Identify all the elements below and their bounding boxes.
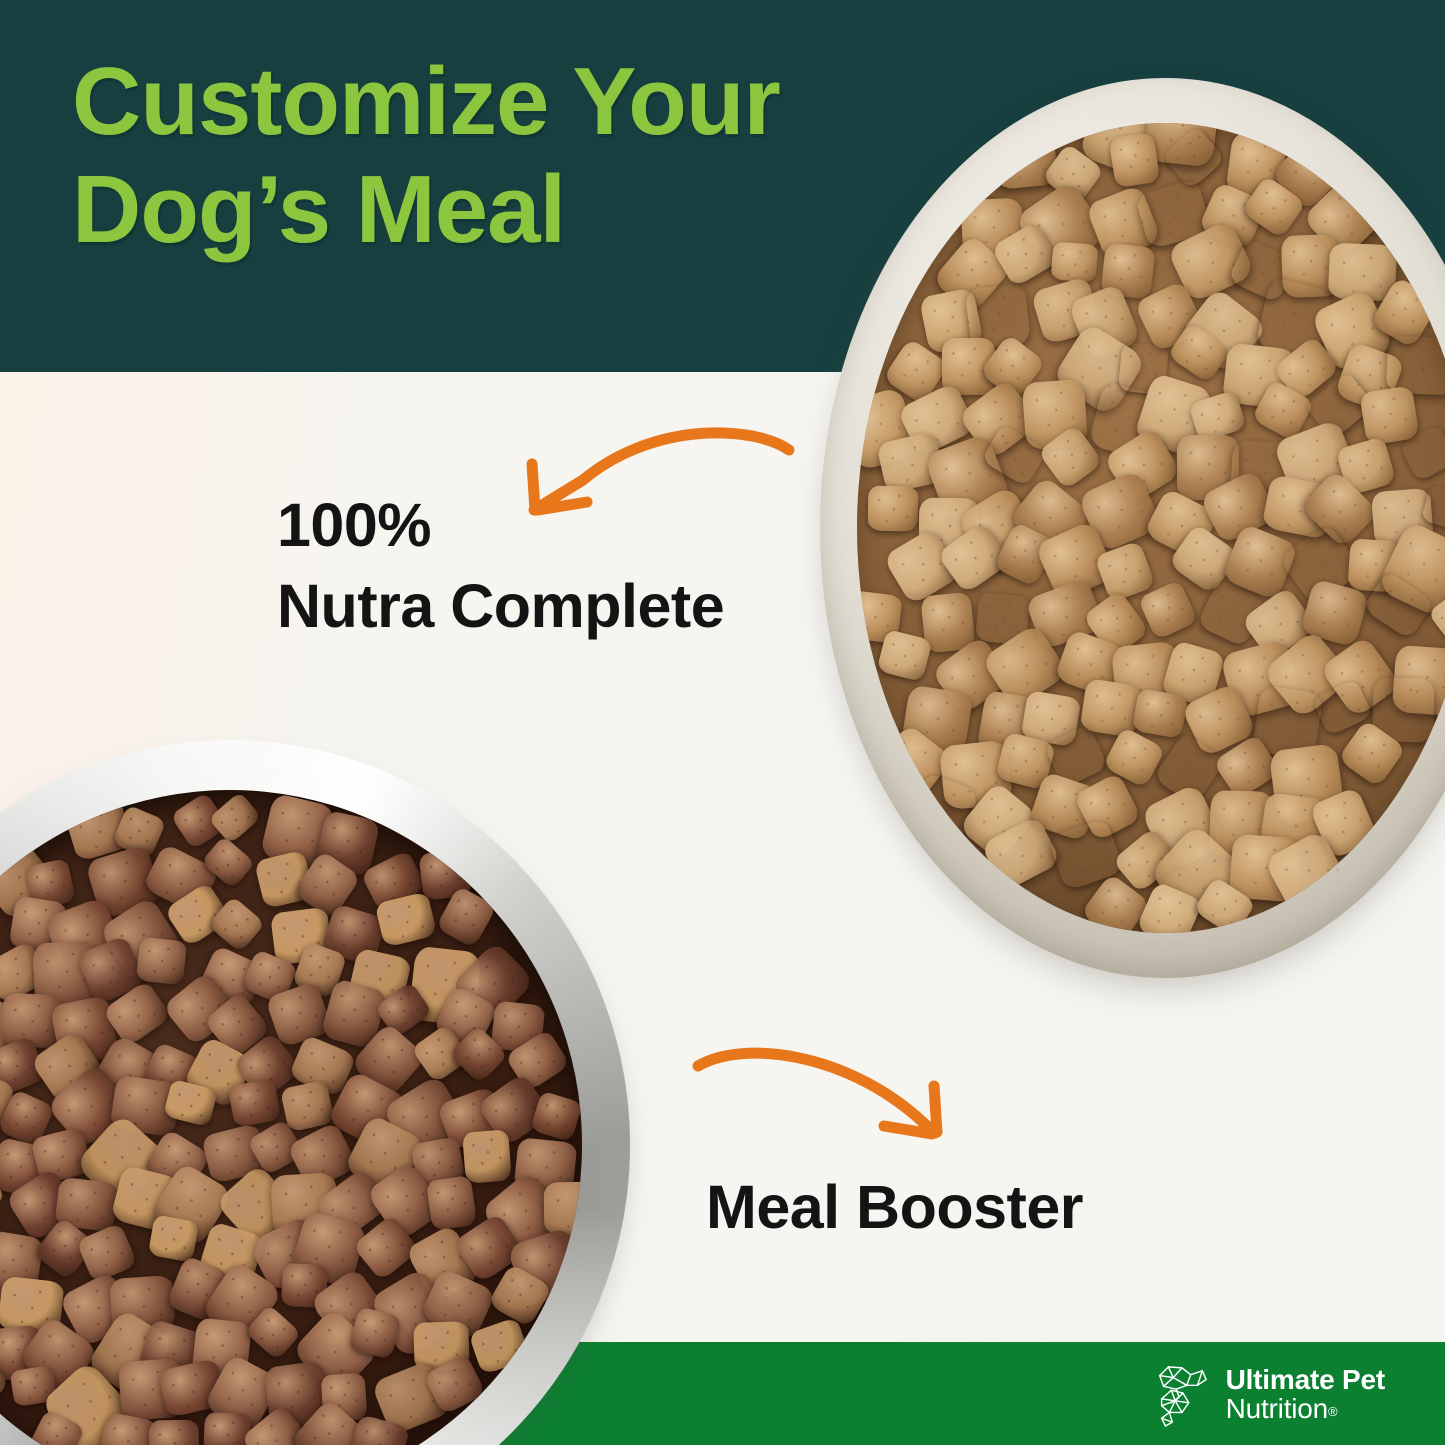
kibble-grain xyxy=(426,1175,476,1221)
brand-name: Ultimate Pet Nutrition® xyxy=(1226,1366,1385,1423)
ceramic-bowl-contents xyxy=(857,123,1445,933)
brand-line-1: Ultimate Pet xyxy=(1226,1366,1385,1395)
kibble-grain xyxy=(1132,688,1190,742)
kibble-grain xyxy=(1373,677,1435,733)
kibble-grain xyxy=(867,486,918,532)
curved-arrow-right-icon xyxy=(672,1038,972,1168)
kibble-grain xyxy=(1360,385,1420,440)
callout-meal-booster: Meal Booster xyxy=(706,1172,1083,1242)
callout-booster-line-1: Meal Booster xyxy=(706,1172,1083,1242)
stainless-steel-bowl-meal-booster xyxy=(0,740,630,1445)
kibble-grain xyxy=(228,1078,281,1128)
kibble-grain xyxy=(965,283,1031,344)
brand-line-2: Nutrition® xyxy=(1226,1395,1385,1424)
kibble-grain xyxy=(206,792,262,848)
title-line-1: Customize Your xyxy=(72,48,780,155)
brand-logo: Ultimate Pet Nutrition® xyxy=(1150,1362,1385,1428)
kibble-grain xyxy=(921,591,975,641)
curved-arrow-left-icon xyxy=(505,418,805,538)
callout-nutra-line-2: Nutra Complete xyxy=(277,566,724,647)
kibble-grain xyxy=(1252,685,1323,750)
ultimate-pet-nutrition-dog-head-icon xyxy=(1150,1362,1212,1428)
registered-mark: ® xyxy=(1328,1404,1337,1419)
promo-card: Customize Your Dog’s Meal 100% Nutra Com… xyxy=(0,0,1445,1445)
kibble-grain xyxy=(462,1129,511,1174)
kibble-grain xyxy=(135,936,186,983)
kibble-grain xyxy=(149,1419,199,1445)
ceramic-bowl-nutra-complete xyxy=(820,78,1445,978)
kibble-grain xyxy=(148,1214,200,1262)
brand-line-2-text: Nutrition xyxy=(1226,1393,1328,1424)
kibble-grain xyxy=(1101,242,1156,293)
